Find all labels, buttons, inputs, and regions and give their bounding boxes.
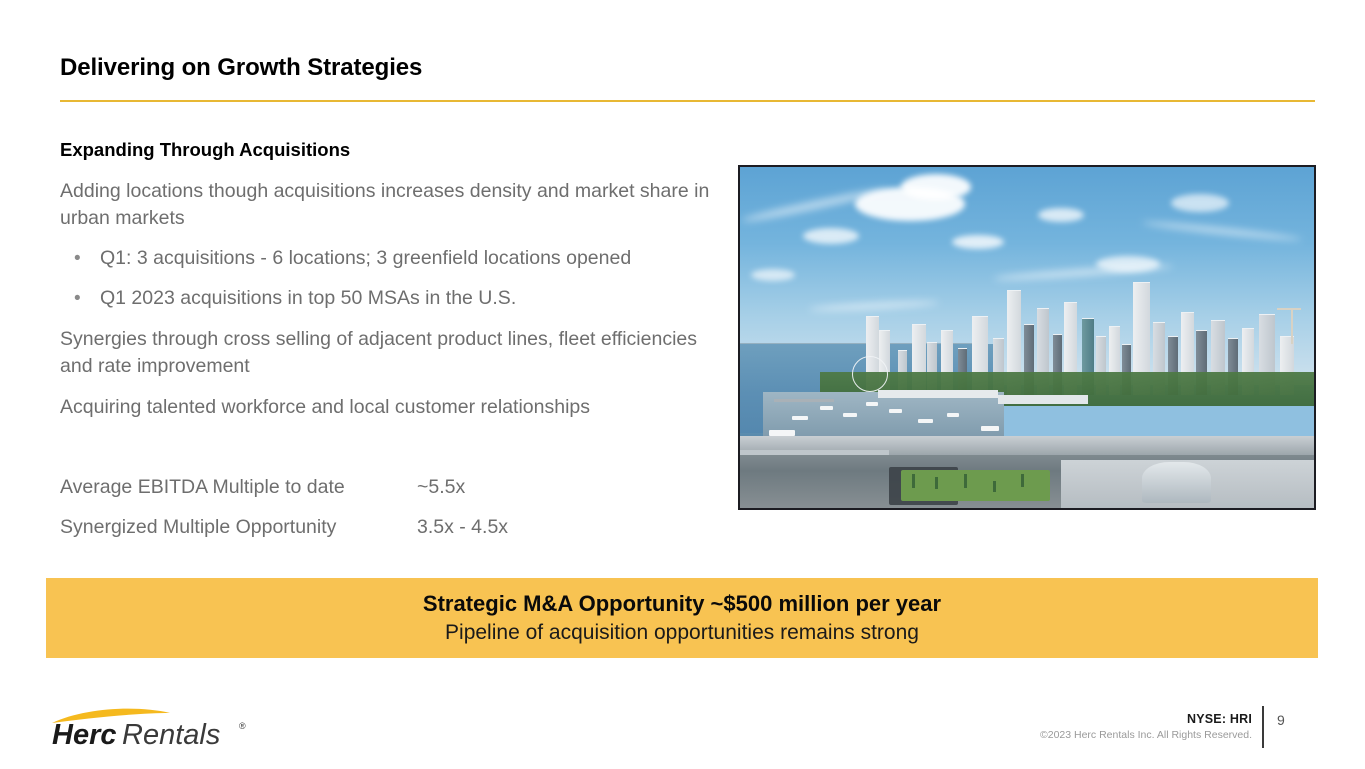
list-item-label: Q1 2023 acquisitions in top 50 MSAs in t… [90, 285, 516, 312]
table-row: Average EBITDA Multiple to date ~5.5x [60, 474, 508, 501]
paragraph-acquisitions-density: Adding locations though acquisitions inc… [60, 178, 710, 232]
cloud-shape [1171, 194, 1229, 212]
boat [843, 413, 857, 417]
cloud-shape [1038, 208, 1084, 222]
metric-value: 3.5x - 4.5x [417, 514, 508, 541]
paragraph-workforce: Acquiring talented workforce and local c… [60, 394, 720, 421]
boat [947, 413, 959, 417]
cloud-shape [901, 174, 971, 200]
metric-label: Average EBITDA Multiple to date [60, 474, 417, 501]
palm-tree [1021, 474, 1024, 487]
marina-building [878, 390, 998, 398]
registered-trademark-icon: ® [239, 721, 246, 731]
strategic-callout-banner: Strategic M&A Opportunity ~$500 million … [46, 578, 1318, 658]
page-number: 9 [1277, 712, 1285, 728]
park-lawn [901, 470, 1050, 501]
palm-tree [964, 474, 967, 488]
bullet-list: • Q1: 3 acquisitions - 6 locations; 3 gr… [60, 245, 740, 325]
boat [769, 430, 795, 436]
title-divider-rule [60, 100, 1315, 102]
boat [866, 402, 878, 406]
pier [774, 399, 834, 402]
logo-wordmark-light: Rentals [122, 719, 220, 750]
boat [981, 426, 999, 431]
boat [792, 416, 808, 420]
herc-rentals-logo: Herc Rentals ® [50, 706, 255, 750]
boat [918, 419, 933, 423]
table-row: Synergized Multiple Opportunity 3.5x - 4… [60, 514, 508, 541]
photo-inner [740, 167, 1314, 508]
bullet-dot-icon: • [60, 245, 90, 272]
rotunda-building [1142, 462, 1211, 503]
construction-crane [1291, 310, 1293, 344]
callout-subline: Pipeline of acquisition opportunities re… [445, 618, 919, 647]
metric-value: ~5.5x [417, 474, 465, 501]
ferris-wheel [852, 356, 888, 392]
page-title: Delivering on Growth Strategies [60, 54, 422, 82]
page-number-divider [1262, 706, 1264, 748]
boat [820, 406, 833, 410]
stock-ticker: NYSE: HRI [1187, 712, 1252, 726]
palm-tree [935, 477, 938, 489]
palm-tree [912, 474, 915, 488]
paragraph-synergies: Synergies through cross selling of adjac… [60, 326, 720, 380]
marina-building [998, 395, 1088, 404]
palm-tree [993, 481, 996, 492]
list-item: • Q1 2023 acquisitions in top 50 MSAs in… [60, 285, 740, 312]
logo-svg: Herc Rentals ® [50, 706, 255, 750]
city-skyline-photo [738, 165, 1316, 510]
boat [889, 409, 902, 413]
list-item: • Q1: 3 acquisitions - 6 locations; 3 gr… [60, 245, 740, 272]
metric-label: Synergized Multiple Opportunity [60, 514, 417, 541]
list-item-label: Q1: 3 acquisitions - 6 locations; 3 gree… [90, 245, 631, 272]
metrics-table: Average EBITDA Multiple to date ~5.5x Sy… [60, 474, 508, 554]
section-heading: Expanding Through Acquisitions [60, 139, 350, 161]
logo-wordmark-bold: Herc [52, 719, 117, 750]
callout-headline: Strategic M&A Opportunity ~$500 million … [423, 589, 941, 618]
copyright-notice: ©2023 Herc Rentals Inc. All Rights Reser… [1040, 729, 1252, 741]
construction-crane-arm [1277, 308, 1301, 310]
bullet-dot-icon: • [60, 285, 90, 312]
